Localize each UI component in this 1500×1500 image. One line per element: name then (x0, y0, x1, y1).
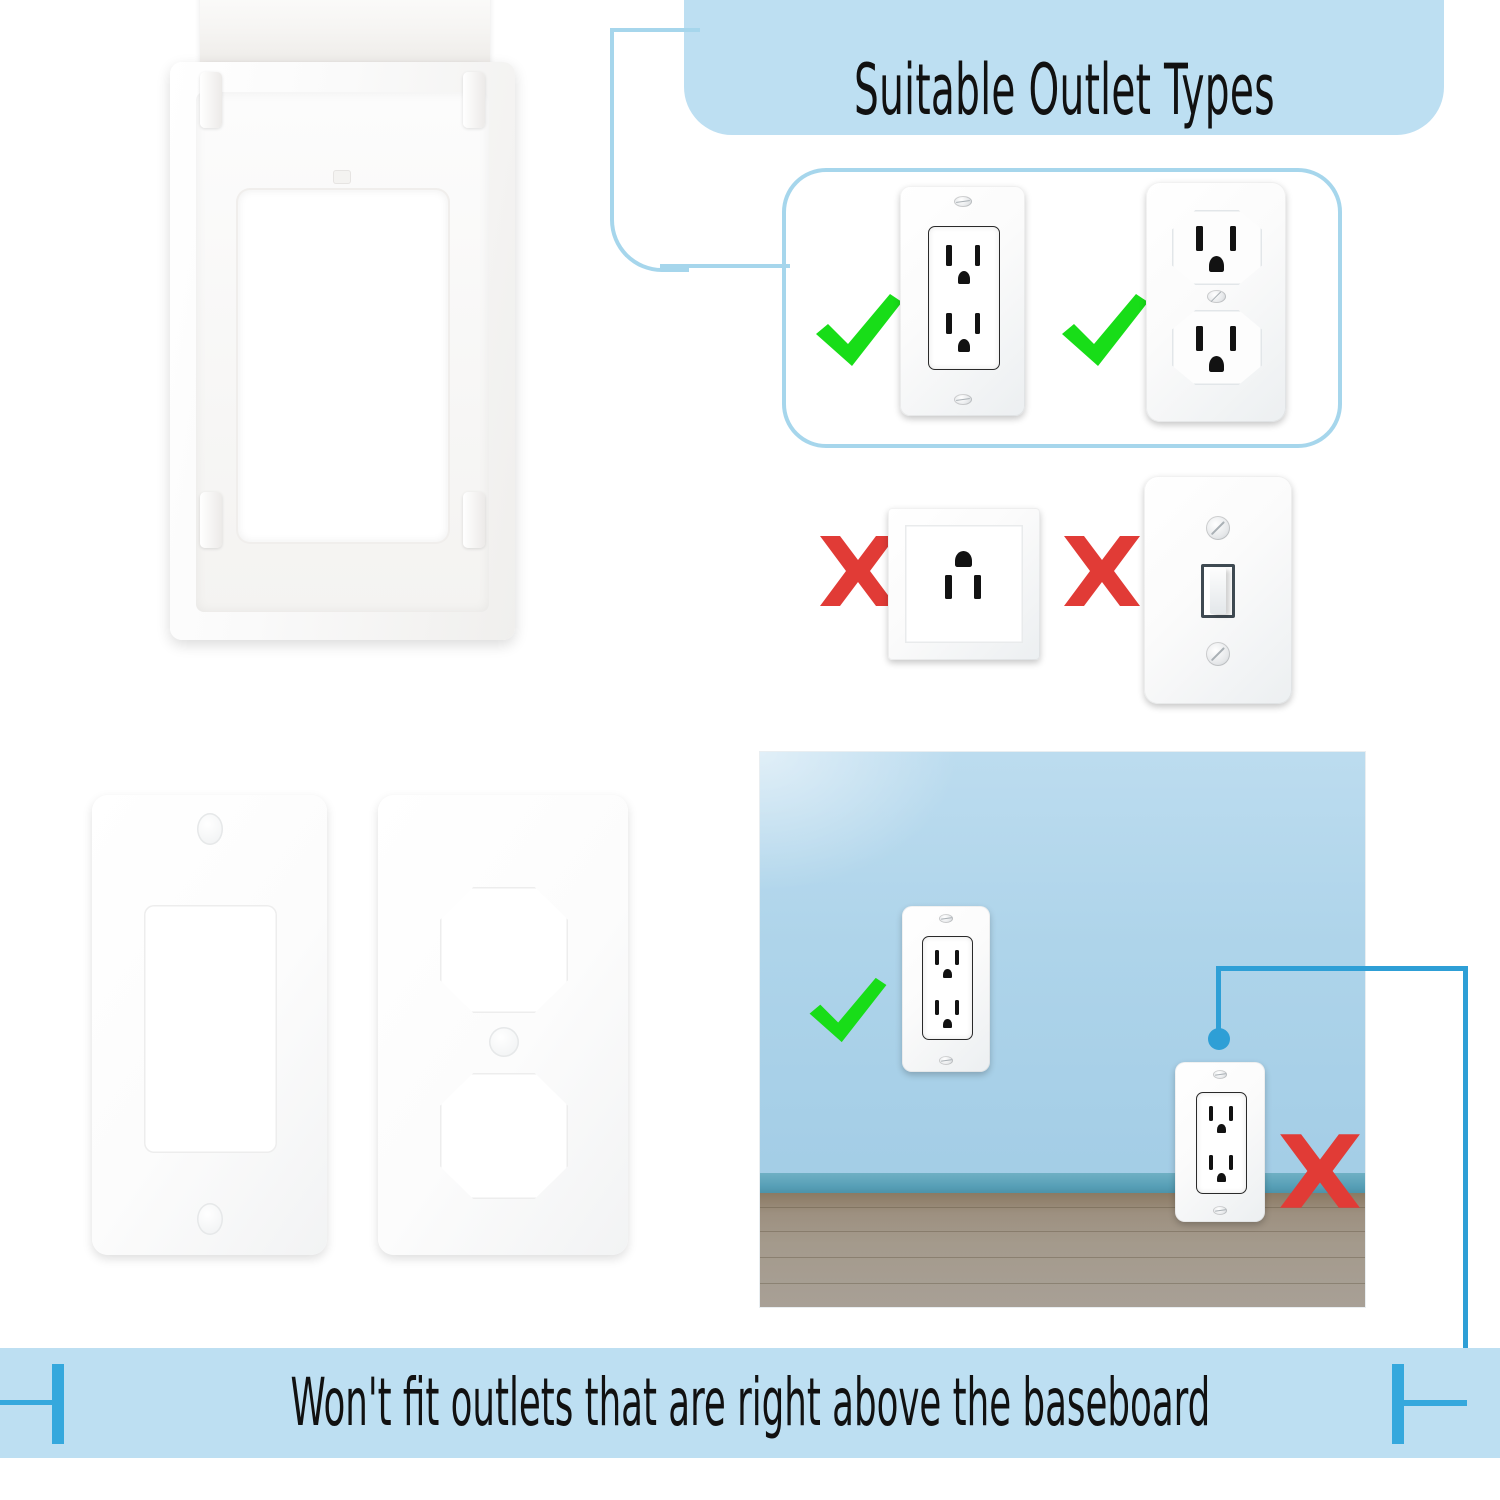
slot-neutral (945, 575, 952, 599)
duplex-faceplate-adapter (378, 795, 628, 1255)
decora-cutout (144, 905, 277, 1153)
bracket-left-arm (0, 1400, 54, 1405)
callout-line-vertical-down (1463, 966, 1468, 1404)
bracket-left (52, 1364, 64, 1444)
page-title: Suitable Outlet Types (854, 55, 1275, 125)
slot-neutral (1209, 1155, 1213, 1170)
room-floor (760, 1193, 1365, 1307)
product-hinge-tab-right (463, 72, 485, 128)
slot-hot (1229, 1106, 1233, 1121)
decora-window (922, 936, 973, 1040)
toggle-light-switch (1144, 476, 1292, 704)
ground-hole (1217, 1124, 1226, 1133)
receptacle-bottom (1172, 310, 1262, 385)
slot-neutral (935, 950, 939, 965)
check-icon-suitable-2 (1058, 290, 1152, 370)
product-clip-tab-right (463, 492, 485, 548)
decora-window (928, 226, 1000, 370)
receptacle-top (929, 233, 999, 295)
slot-neutral (946, 245, 952, 266)
receptacle-top (1197, 1097, 1246, 1142)
screw-icon-bottom (954, 394, 972, 405)
connector-line-top-horizontal (610, 28, 700, 32)
x-icon-unsuitable-2 (1062, 532, 1142, 610)
ground-hole (958, 271, 970, 284)
square-single-socket-outlet (888, 508, 1040, 660)
product-body (170, 62, 515, 640)
infographic-canvas: Suitable Outlet Types (0, 0, 1500, 1500)
slot-hot (975, 245, 980, 266)
slot-hot (1230, 326, 1236, 351)
screw-icon-top (954, 196, 972, 207)
switch-toggle-lever[interactable] (1210, 568, 1226, 614)
slot-hot (955, 950, 959, 965)
room-scene (760, 752, 1365, 1307)
room-baseboard (760, 1173, 1365, 1195)
screw-hole-bottom (197, 1203, 223, 1235)
room-bad-outlet (1175, 1062, 1265, 1222)
slot-hot (975, 313, 980, 334)
ground-hole (943, 969, 952, 978)
screw-icon-top (1213, 1070, 1227, 1079)
screw-hole-top (197, 813, 223, 845)
title-banner: Suitable Outlet Types (684, 0, 1444, 135)
product-clip-tab-left (200, 492, 222, 548)
receptacle-bottom (1197, 1146, 1246, 1191)
slot-neutral (946, 313, 952, 334)
duplex-cutout-top (440, 887, 568, 1013)
connector-line-top-curve (610, 28, 689, 272)
ground-hole (955, 551, 972, 567)
slot-neutral (935, 1000, 939, 1015)
receptacle-bottom (923, 991, 972, 1037)
slot-neutral (1209, 1106, 1213, 1121)
screw-icon-top (939, 914, 953, 923)
check-icon-room-good (806, 974, 890, 1046)
bracket-right (1392, 1364, 1404, 1444)
screw-icon-bottom (1206, 642, 1230, 666)
slot-neutral (1196, 226, 1203, 251)
screw-icon-bottom (1213, 1206, 1227, 1215)
slot-hot (1229, 1155, 1233, 1170)
product-hinge-tab-left (200, 72, 222, 128)
screw-icon-top (1206, 516, 1230, 540)
ground-hole (1209, 256, 1224, 272)
product-outlet-window (238, 190, 448, 542)
decora-duplex-outlet (900, 186, 1025, 416)
slot-neutral (1196, 326, 1203, 351)
receptacle-bottom (929, 301, 999, 363)
hero-product-image (170, 0, 515, 650)
connector-line-top-to-box (660, 264, 790, 268)
duplex-cutout-bottom (440, 1073, 568, 1199)
screw-icon-bottom (939, 1056, 953, 1065)
switch-toggle-frame (1201, 564, 1235, 618)
x-icon-room-bad (1278, 1130, 1362, 1212)
ground-hole (943, 1019, 952, 1028)
slot-hot (1230, 226, 1236, 251)
ground-hole (958, 339, 970, 352)
slot-hot (955, 1000, 959, 1015)
receptacle-top (923, 941, 972, 987)
ground-hole (1217, 1173, 1226, 1182)
callout-line-vertical-up (1216, 968, 1221, 1034)
decora-window (1196, 1092, 1247, 1194)
check-icon-suitable-1 (812, 290, 906, 370)
product-center-latch (333, 170, 351, 184)
callout-line-horizontal (1216, 966, 1468, 971)
room-good-outlet (902, 906, 990, 1072)
standard-round-duplex-outlet (1146, 182, 1286, 422)
screw-hole-center (489, 1027, 519, 1057)
slot-hot (974, 575, 981, 599)
screw-icon-center (1207, 290, 1226, 303)
bottom-banner: Won't fit outlets that are right above t… (0, 1348, 1500, 1458)
ground-hole (1209, 356, 1224, 372)
square-outlet-inner-frame (905, 525, 1023, 643)
receptacle-top (1172, 210, 1262, 285)
decora-faceplate-adapter (92, 795, 327, 1255)
callout-dot (1208, 1028, 1230, 1050)
x-icon-unsuitable-1 (818, 532, 898, 610)
bottom-banner-text: Won't fit outlets that are right above t… (290, 1370, 1210, 1436)
